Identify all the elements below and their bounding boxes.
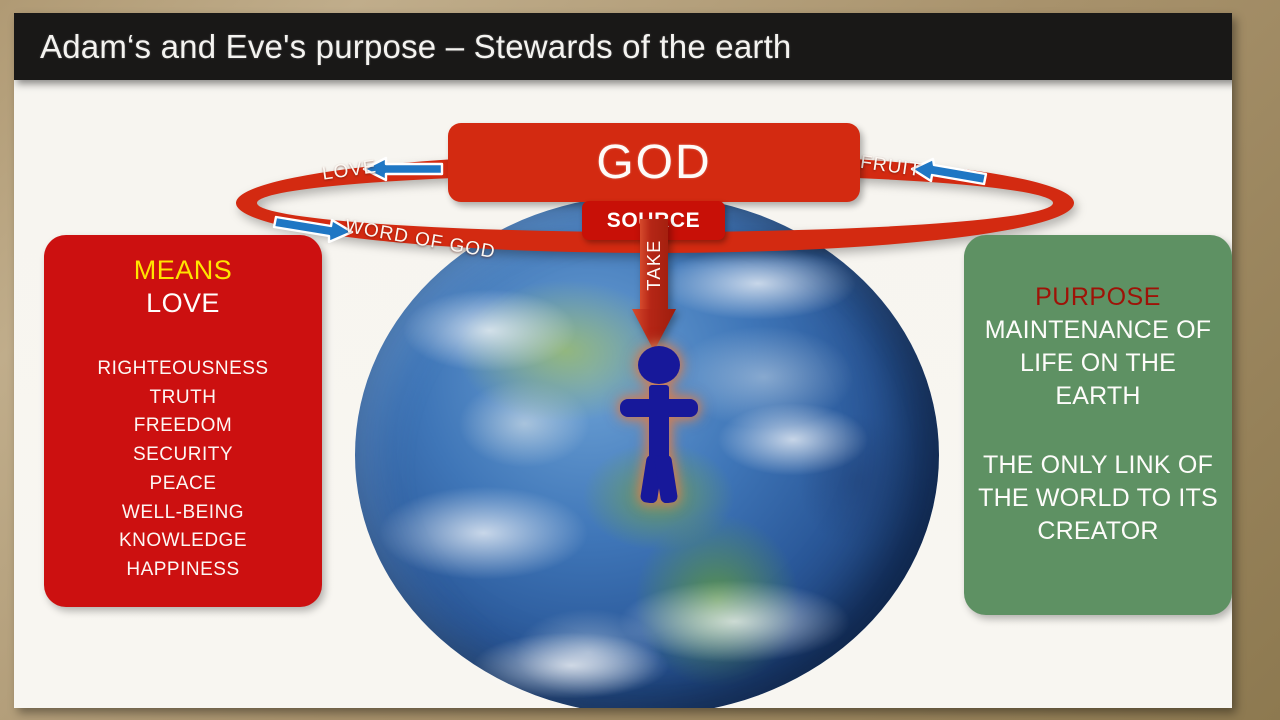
purpose-panel: PURPOSE MAINTENANCE OF LIFE ON THE EARTH… xyxy=(964,235,1232,615)
slide-title-bar: Adam‘s and Eve's purpose – Stewards of t… xyxy=(14,13,1232,80)
list-item: KNOWLEDGE xyxy=(44,527,322,556)
slide-canvas: Adam‘s and Eve's purpose – Stewards of t… xyxy=(14,13,1232,708)
means-list: RIGHTEOUSNESS TRUTH FREEDOM SECURITY PEA… xyxy=(44,355,322,585)
purpose-line-1: MAINTENANCE OF LIFE ON THE EARTH xyxy=(974,314,1222,413)
page-title: Adam‘s and Eve's purpose – Stewards of t… xyxy=(40,28,792,66)
take-label: TAKE xyxy=(640,219,668,311)
purpose-heading: PURPOSE xyxy=(1035,283,1161,312)
god-label: GOD xyxy=(596,135,711,190)
list-item: TRUTH xyxy=(44,384,322,413)
list-item: HAPPINESS xyxy=(44,556,322,585)
god-box: GOD xyxy=(448,123,860,202)
human-stick-figure-icon xyxy=(614,343,704,503)
means-subheading: LOVE xyxy=(146,288,220,319)
list-item: PEACE xyxy=(44,470,322,499)
list-item: WELL-BEING xyxy=(44,499,322,528)
list-item: FREEDOM xyxy=(44,412,322,441)
list-item: SECURITY xyxy=(44,441,322,470)
means-heading: MEANS xyxy=(134,255,233,286)
slide-root: Adam‘s and Eve's purpose – Stewards of t… xyxy=(0,0,1280,720)
purpose-line-2: THE ONLY LINK OF THE WORLD TO ITS CREATO… xyxy=(974,449,1222,548)
means-panel: MEANS LOVE RIGHTEOUSNESS TRUTH FREEDOM S… xyxy=(44,235,322,607)
list-item: RIGHTEOUSNESS xyxy=(44,355,322,384)
take-arrow: TAKE xyxy=(632,219,676,351)
